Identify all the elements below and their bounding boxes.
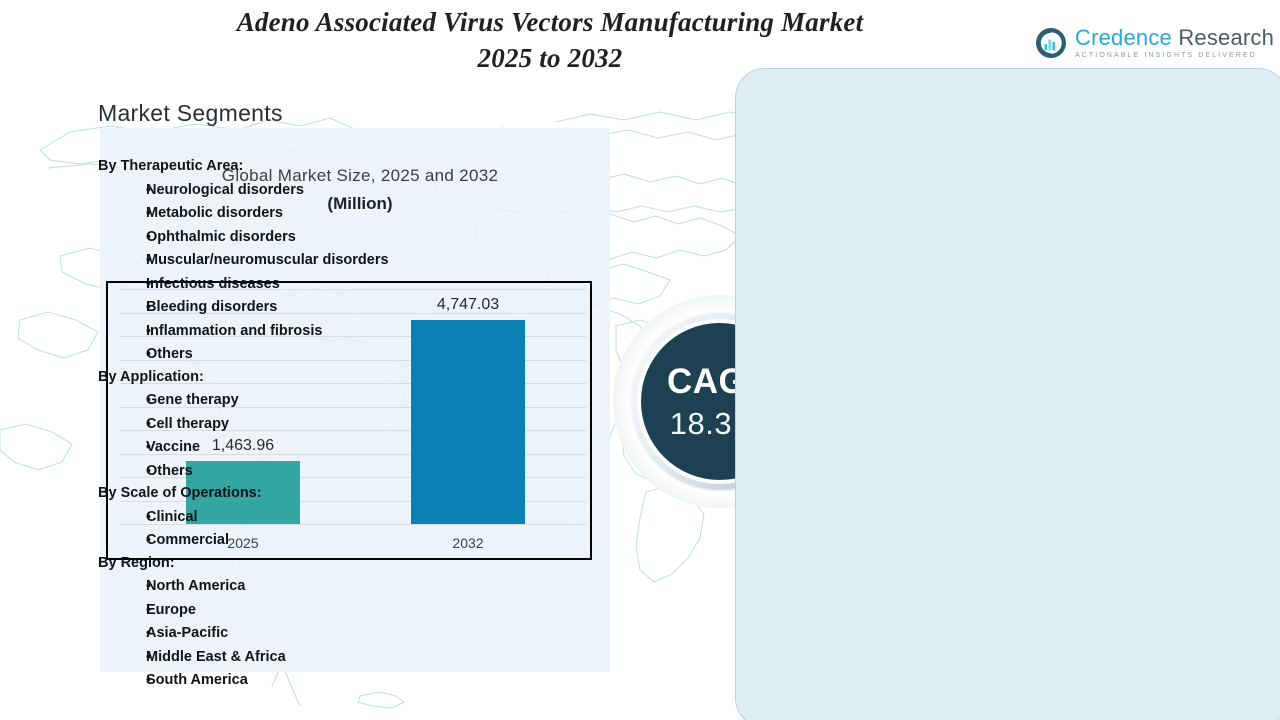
segment-list-item[interactable]: •Others [98,459,568,483]
bullet-icon: • [98,388,146,411]
brand-text: Credence Research Actionable Insights De… [1075,27,1274,59]
market-segments-panel [735,68,1280,720]
bullet-icon: • [98,178,146,201]
bullet-icon: • [98,645,146,668]
brand-tagline: Actionable Insights Delivered [1075,52,1274,59]
segment-list-item[interactable]: •Vaccine [98,435,568,459]
page-title: Adeno Associated Virus Vectors Manufactu… [120,4,980,76]
brand-name: Credence Research [1075,27,1274,49]
bullet-icon: • [98,598,146,621]
segment-item-label: North America [146,575,568,598]
bullet-icon: • [98,201,146,224]
segment-list-item[interactable]: •Gene therapy [98,388,568,412]
bullet-icon: • [98,435,146,458]
brand-name-part1: Credence [1075,25,1172,50]
segment-list-item[interactable]: •South America [98,668,568,692]
page-title-line1: Adeno Associated Virus Vectors Manufactu… [237,7,864,37]
segment-item-label: Bleeding disorders [146,296,568,319]
segment-item-label: Inflammation and fibrosis [146,320,568,343]
segment-group-heading: By Therapeutic Area: [98,155,568,178]
segment-list-item[interactable]: •Clinical [98,505,568,529]
segment-group-heading: By Application: [98,366,568,389]
segment-list-item[interactable]: •Europe [98,598,568,622]
segment-list-item[interactable]: •Asia-Pacific [98,621,568,645]
segment-group-heading: By Region: [98,552,568,575]
brand-logo[interactable]: Credence Research Actionable Insights De… [1034,26,1274,60]
segment-item-label: Others [146,460,568,483]
segment-item-label: Middle East & Africa [146,646,568,669]
bullet-icon: • [98,505,146,528]
bullet-icon: • [98,342,146,365]
segment-item-label: Clinical [146,506,568,529]
segment-list-item[interactable]: •Neurological disorders [98,178,568,202]
brand-name-part2: Research [1178,25,1274,50]
bullet-icon: • [98,574,146,597]
bullet-icon: • [98,528,146,551]
segment-list-item[interactable]: •Infectious diseases [98,272,568,296]
bullet-icon: • [98,459,146,482]
segment-item-label: Neurological disorders [146,179,568,202]
segment-list-item[interactable]: •Muscular/neuromuscular disorders [98,248,568,272]
segment-item-label: Muscular/neuromuscular disorders [146,249,568,272]
bullet-icon: • [98,668,146,691]
segment-item-label: Metabolic disorders [146,202,568,225]
segment-item-label: Others [146,343,568,366]
segment-list-item[interactable]: •Metabolic disorders [98,201,568,225]
market-segments-title: Market Segments [98,100,283,127]
market-segments-list: By Therapeutic Area:•Neurological disord… [98,155,568,692]
segment-item-label: Commercial [146,529,568,552]
segment-list-item[interactable]: •Middle East & Africa [98,645,568,669]
segment-item-label: South America [146,669,568,692]
bullet-icon: • [98,412,146,435]
segment-item-label: Gene therapy [146,389,568,412]
segment-item-label: Asia-Pacific [146,622,568,645]
bullet-icon: • [98,272,146,295]
bullet-icon: • [98,248,146,271]
segment-list-item[interactable]: •North America [98,574,568,598]
segment-list-item[interactable]: •Bleeding disorders [98,295,568,319]
segment-list-item[interactable]: •Cell therapy [98,412,568,436]
segment-item-label: Ophthalmic disorders [146,226,568,249]
bullet-icon: • [98,225,146,248]
segment-list-item[interactable]: •Ophthalmic disorders [98,225,568,249]
segment-list-item[interactable]: •Others [98,342,568,366]
segment-list-item[interactable]: •Commercial [98,528,568,552]
bullet-icon: • [98,295,146,318]
segment-item-label: Cell therapy [146,413,568,436]
bullet-icon: • [98,319,146,342]
segment-group-heading: By Scale of Operations: [98,482,568,505]
segment-list-item[interactable]: •Inflammation and fibrosis [98,319,568,343]
infographic-canvas: Adeno Associated Virus Vectors Manufactu… [0,0,1280,720]
segment-item-label: Europe [146,599,568,622]
bar-chart-circle-logo-icon [1034,26,1068,60]
bullet-icon: • [98,621,146,644]
segment-item-label: Vaccine [146,436,568,459]
segment-item-label: Infectious diseases [146,273,568,296]
